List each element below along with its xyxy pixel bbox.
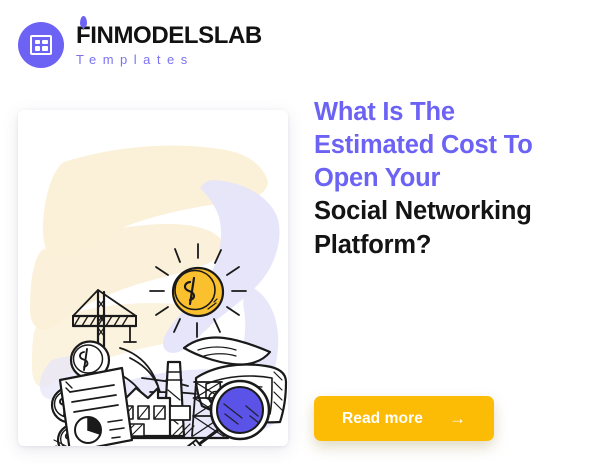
arrow-right-icon: → bbox=[449, 410, 466, 427]
grid-cell bbox=[35, 40, 40, 44]
grid-squares-icon bbox=[30, 35, 52, 55]
headline-accent-line-3: Open Your bbox=[314, 162, 582, 195]
headline-strong-line-1: Social Networking bbox=[314, 195, 582, 228]
grid-cell bbox=[42, 40, 47, 44]
headline-accent-line-2: Estimated Cost To bbox=[314, 129, 582, 162]
brand-mark bbox=[18, 22, 64, 68]
brand-subtitle: Templates bbox=[76, 53, 262, 66]
brand-text: FINMODELSLAB Templates bbox=[76, 24, 262, 66]
brand-logo[interactable]: FINMODELSLAB Templates bbox=[18, 22, 262, 68]
location-pin-icon bbox=[80, 16, 87, 28]
grid-cell bbox=[42, 46, 47, 50]
brand-name: FINMODELSLAB bbox=[76, 24, 262, 48]
read-more-label: Read more bbox=[342, 410, 423, 428]
business-doodle-illustration bbox=[18, 110, 288, 446]
read-more-button[interactable]: Read more → bbox=[314, 396, 494, 441]
page-title: What Is The Estimated Cost To Open Your … bbox=[314, 96, 582, 262]
grid-cell bbox=[35, 46, 40, 50]
illustration-card bbox=[18, 110, 288, 446]
headline-strong-line-2: Platform? bbox=[314, 229, 582, 262]
headline-accent-line-1: What Is The bbox=[314, 96, 582, 129]
